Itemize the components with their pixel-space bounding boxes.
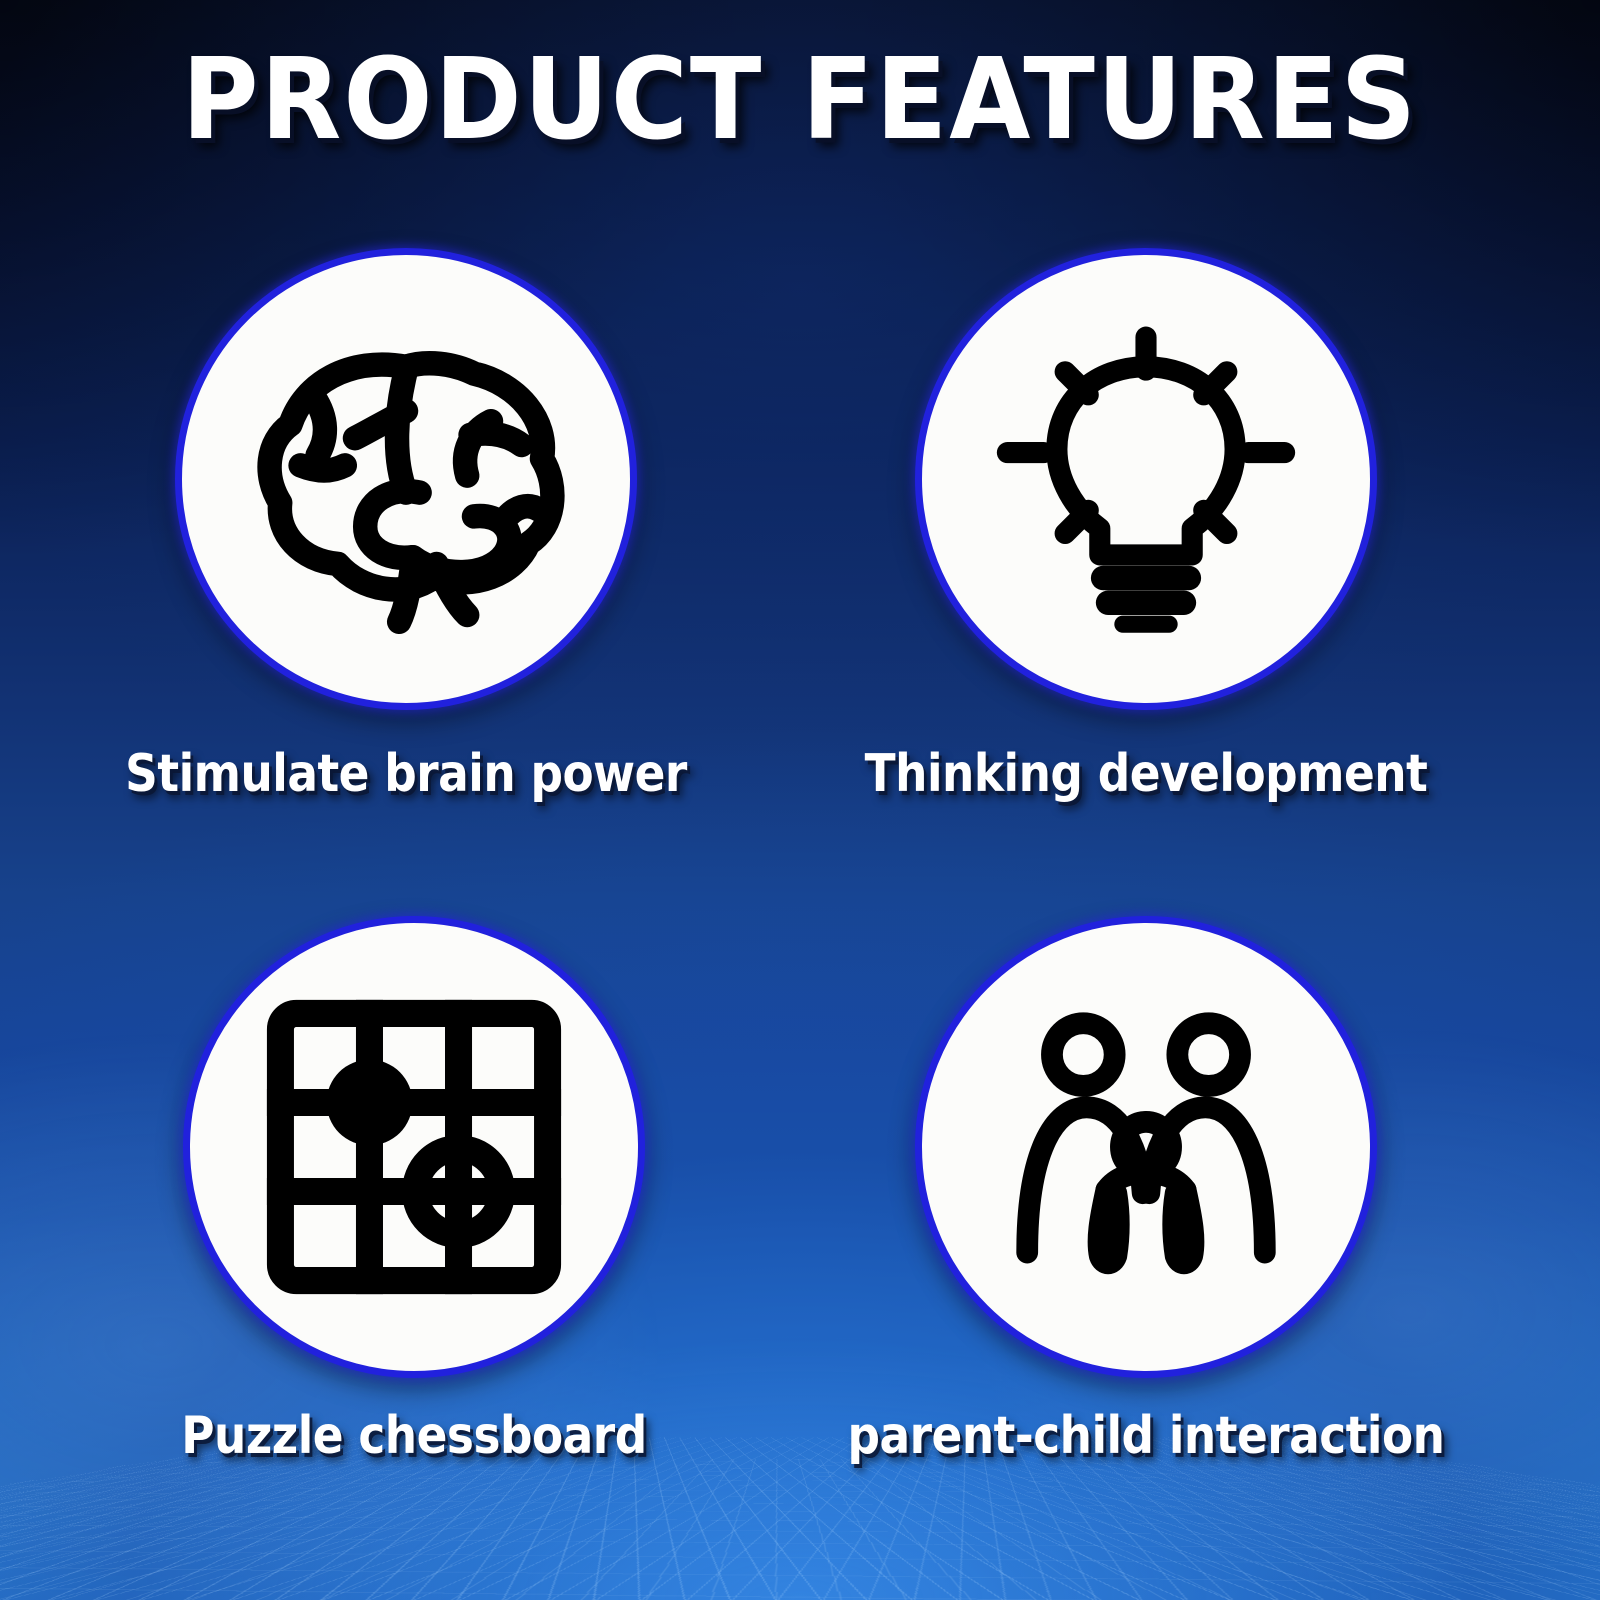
family-parent-child-icon (981, 982, 1311, 1312)
feature-icon-circle (183, 916, 645, 1378)
product-features-poster: PRODUCT FEATURES (0, 0, 1600, 1600)
feature-item-thinking-development[interactable]: Thinking development (796, 248, 1496, 804)
lightbulb-icon (981, 314, 1311, 644)
feature-icon-circle (175, 248, 637, 710)
feature-grid: Stimulate brain power (0, 0, 1600, 1600)
feature-label: parent-child interaction (807, 1406, 1486, 1466)
feature-label: Puzzle chessboard (75, 1406, 754, 1466)
feature-label: Thinking development (807, 744, 1486, 804)
feature-icon-circle (915, 248, 1377, 710)
chessboard-grid-icon (255, 988, 573, 1306)
feature-item-parent-child-interaction[interactable]: parent-child interaction (796, 916, 1496, 1466)
feature-icon-circle (915, 916, 1377, 1378)
brain-icon (236, 309, 576, 649)
feature-item-stimulate-brain-power[interactable]: Stimulate brain power (56, 248, 756, 804)
feature-item-puzzle-chessboard[interactable]: Puzzle chessboard (64, 916, 764, 1466)
feature-label: Stimulate brain power (67, 744, 746, 804)
